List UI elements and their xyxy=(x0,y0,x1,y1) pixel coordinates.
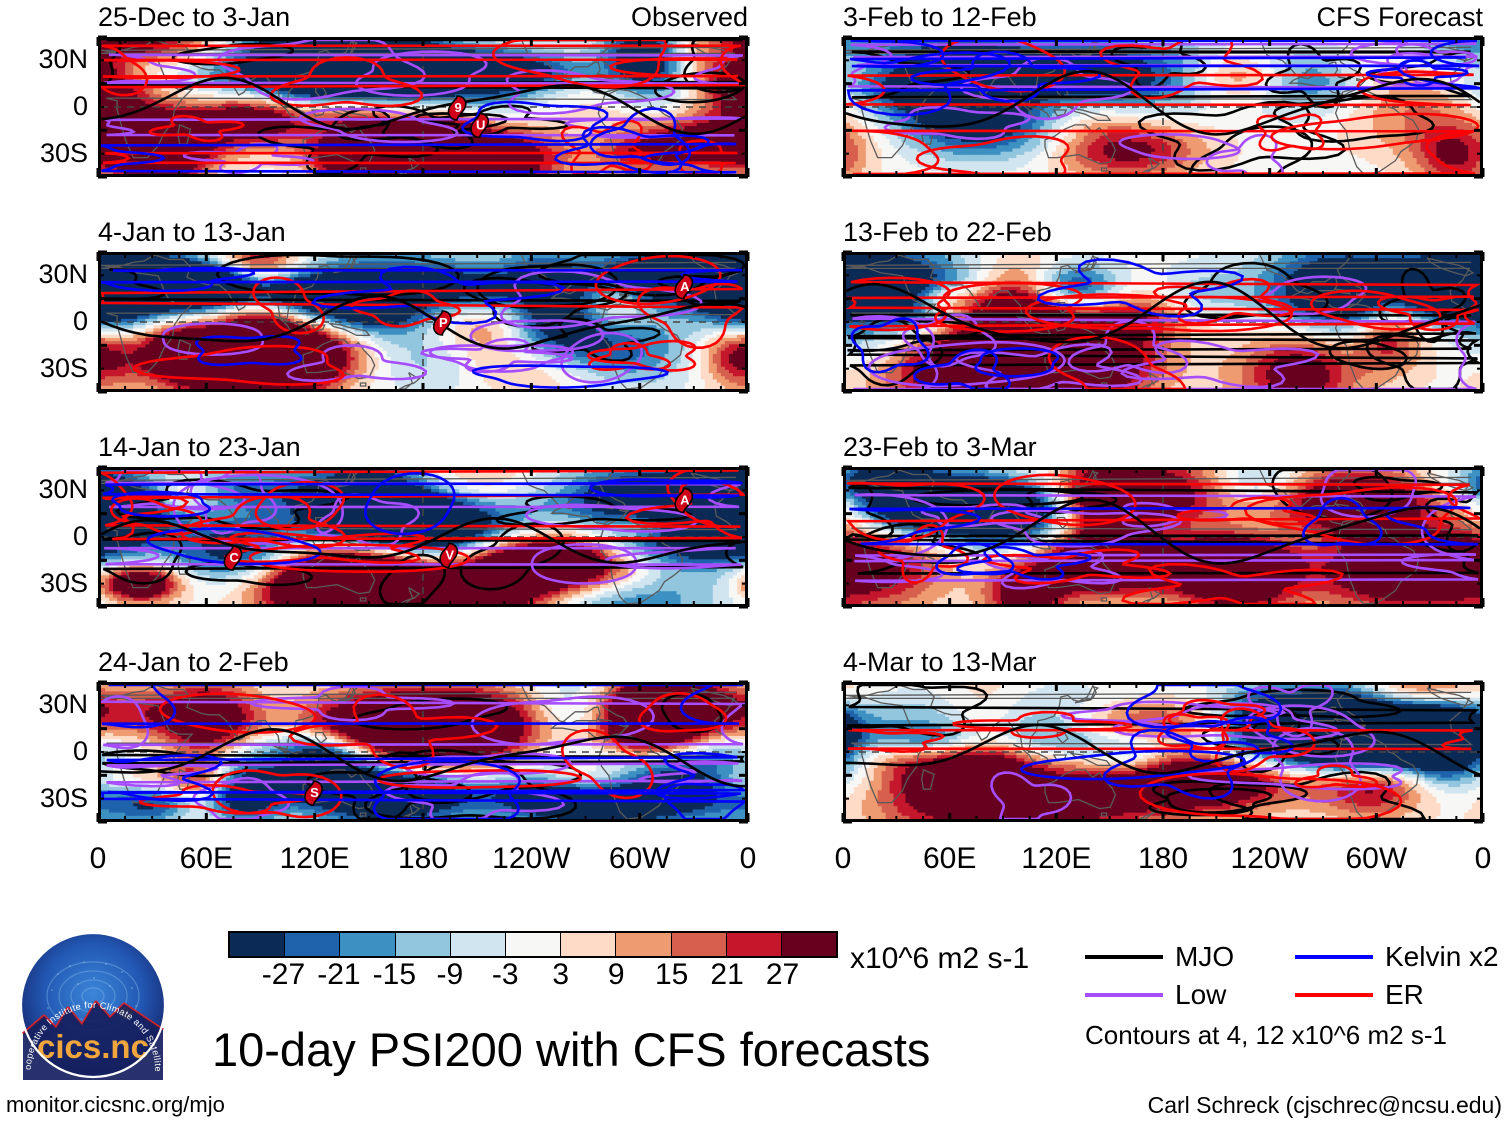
colorbar-band-2 xyxy=(340,933,395,956)
colorbar-tick-9: 27 xyxy=(766,960,799,990)
colorbar-band-9 xyxy=(727,933,782,956)
colorbar-tick-7: 15 xyxy=(655,960,688,990)
column-header-observed: Observed xyxy=(430,4,748,31)
panel-title-p8: 4-Mar to 13-Mar xyxy=(843,649,1037,676)
storm-label: A xyxy=(680,492,690,507)
colorbar-tick-2: -15 xyxy=(373,960,416,990)
storm-label: P xyxy=(439,315,448,330)
y-tick-label-30S: 30S xyxy=(0,355,88,382)
footer-author: Carl Schreck (cjschrec@ncsu.edu) xyxy=(1148,1094,1502,1117)
map-plot-p4[interactable]: S xyxy=(98,682,748,822)
colorbar: -27-21-15-9-339152127 xyxy=(228,931,838,992)
x-tick-label-180: 180 xyxy=(1103,844,1223,874)
x-tick-label-120W: 120W xyxy=(471,844,591,874)
y-tick-label-30N: 30N xyxy=(0,261,88,288)
legend-line-kelvin-icon xyxy=(1295,955,1373,959)
contour-legend: MJO Kelvin x2 Low ER xyxy=(1085,938,1505,1014)
legend-label-low: Low xyxy=(1175,981,1226,1009)
map-plot-p3[interactable]: CVA xyxy=(98,467,748,607)
contour-note: Contours at 4, 12 x10^6 m2 s-1 xyxy=(1085,1022,1447,1048)
panel-title-p4: 24-Jan to 2-Feb xyxy=(98,649,289,676)
x-tick-label-120E: 120E xyxy=(255,844,375,874)
colorbar-band-1 xyxy=(285,933,340,956)
colorbar-tick-1: -21 xyxy=(317,960,360,990)
colorbar-band-5 xyxy=(506,933,561,956)
legend-label-er: ER xyxy=(1385,981,1424,1009)
panel-title-p7: 23-Feb to 3-Mar xyxy=(843,434,1037,461)
colorbar-band-3 xyxy=(396,933,451,956)
field-plot-p6 xyxy=(846,255,1480,389)
colorbar-band-8 xyxy=(672,933,727,956)
field-plot-p2: PA xyxy=(101,255,745,389)
map-plot-p7[interactable] xyxy=(843,467,1483,607)
storm-label: A xyxy=(680,279,690,294)
y-tick-label-30S: 30S xyxy=(0,785,88,812)
colorbar-bands xyxy=(228,931,838,958)
column-header-forecast: CFS Forecast xyxy=(1160,4,1483,31)
y-tick-label-30S: 30S xyxy=(0,570,88,597)
field-plot-p7 xyxy=(846,470,1480,604)
legend-row-1: MJO Kelvin x2 xyxy=(1085,938,1505,976)
field-plot-p4: S xyxy=(101,685,745,819)
colorbar-tick-3: -9 xyxy=(436,960,463,990)
storm-label: S xyxy=(310,785,319,800)
x-tick-label-60E: 60E xyxy=(146,844,266,874)
x-tick-label-0: 0 xyxy=(783,844,903,874)
colorbar-tick-6: 9 xyxy=(608,960,625,990)
storm-label: 9 xyxy=(455,100,462,115)
legend-label-kelvin: Kelvin x2 xyxy=(1385,943,1499,971)
cics-nc-logo-icon: cics.nc Cooperative Institute for Climat… xyxy=(18,930,168,1080)
x-tick-label-120W: 120W xyxy=(1210,844,1330,874)
panel-title-p1: 25-Dec to 3-Jan xyxy=(98,4,290,31)
x-tick-label-0: 0 xyxy=(38,844,158,874)
field-plot-p8 xyxy=(846,685,1480,819)
legend-item-kelvin: Kelvin x2 xyxy=(1295,943,1505,971)
panel-title-p2: 4-Jan to 13-Jan xyxy=(98,219,286,246)
legend-line-low-icon xyxy=(1085,993,1163,997)
page-title: 10-day PSI200 with CFS forecasts xyxy=(212,1026,930,1073)
legend-line-mjo-icon xyxy=(1085,955,1163,959)
figure-root: 25-Dec to 3-Jan Observed 9U 4-Jan to 13-… xyxy=(0,0,1510,1121)
legend-label-mjo: MJO xyxy=(1175,943,1234,971)
x-tick-label-0: 0 xyxy=(1423,844,1510,874)
legend-row-2: Low ER xyxy=(1085,976,1505,1014)
map-plot-p8[interactable] xyxy=(843,682,1483,822)
y-tick-label-0: 0 xyxy=(0,738,88,765)
logo-wordmark: cics.nc xyxy=(37,1028,149,1065)
y-tick-label-0: 0 xyxy=(0,93,88,120)
y-tick-label-30N: 30N xyxy=(0,46,88,73)
map-plot-p2[interactable]: PA xyxy=(98,252,748,392)
y-tick-label-30N: 30N xyxy=(0,476,88,503)
legend-item-low: Low xyxy=(1085,981,1295,1009)
colorbar-band-4 xyxy=(451,933,506,956)
colorbar-band-7 xyxy=(616,933,671,956)
y-tick-label-0: 0 xyxy=(0,308,88,335)
panel-title-p5: 3-Feb to 12-Feb xyxy=(843,4,1037,31)
map-plot-p1[interactable]: 9U xyxy=(98,37,748,177)
field-plot-p1: 9U xyxy=(101,40,745,174)
x-tick-label-60E: 60E xyxy=(890,844,1010,874)
x-tick-label-60W: 60W xyxy=(580,844,700,874)
map-plot-p6[interactable] xyxy=(843,252,1483,392)
colorbar-band-6 xyxy=(561,933,616,956)
storm-label: V xyxy=(445,547,454,562)
x-tick-label-180: 180 xyxy=(363,844,483,874)
colorbar-band-0 xyxy=(230,933,285,956)
colorbar-tick-8: 21 xyxy=(710,960,743,990)
colorbar-tick-5: 3 xyxy=(552,960,569,990)
cics-nc-logo: cics.nc Cooperative Institute for Climat… xyxy=(18,930,168,1080)
legend-item-er: ER xyxy=(1295,981,1505,1009)
x-tick-label-120E: 120E xyxy=(996,844,1116,874)
field-plot-p3: CVA xyxy=(101,470,745,604)
colorbar-tick-4: -3 xyxy=(492,960,519,990)
colorbar-band-10 xyxy=(782,933,836,956)
footer-url[interactable]: monitor.cicsnc.org/mjo xyxy=(6,1094,225,1116)
map-plot-p5[interactable] xyxy=(843,37,1483,177)
y-tick-label-30N: 30N xyxy=(0,691,88,718)
field-plot-p5 xyxy=(846,40,1480,174)
colorbar-units-label: x10^6 m2 s-1 xyxy=(850,944,1029,974)
x-tick-label-60W: 60W xyxy=(1316,844,1436,874)
y-tick-label-30S: 30S xyxy=(0,140,88,167)
legend-line-er-icon xyxy=(1295,993,1373,997)
y-tick-label-0: 0 xyxy=(0,523,88,550)
storm-label: C xyxy=(229,550,239,565)
colorbar-tick-labels: -27-21-15-9-339152127 xyxy=(228,958,838,992)
panel-title-p6: 13-Feb to 22-Feb xyxy=(843,219,1052,246)
colorbar-tick-0: -27 xyxy=(262,960,305,990)
legend-item-mjo: MJO xyxy=(1085,943,1295,971)
panel-title-p3: 14-Jan to 23-Jan xyxy=(98,434,301,461)
storm-label: U xyxy=(476,117,485,132)
